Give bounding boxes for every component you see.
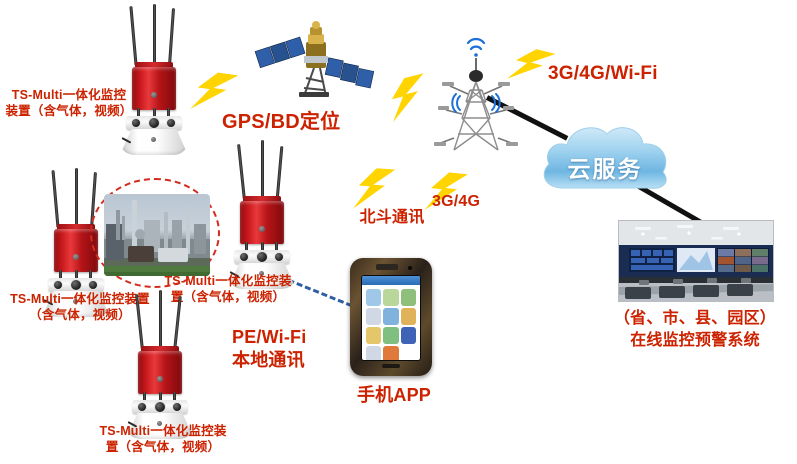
antenna: [153, 4, 156, 66]
antenna: [51, 170, 59, 228]
sensor-port: [239, 252, 249, 262]
sensor-port: [166, 118, 176, 128]
sensor-port: [256, 251, 268, 263]
app-icon[interactable]: [383, 346, 398, 361]
device-red-housing: [132, 67, 176, 110]
app-icon[interactable]: [383, 289, 398, 306]
label-device-bottom: TS-Multi一体化监控装 置（含气体，视频）: [78, 424, 248, 455]
monitoring-device-top-left[interactable]: [112, 4, 198, 152]
monitoring-device-bottom[interactable]: [118, 290, 204, 438]
cone-indicator: [151, 137, 156, 142]
antenna: [237, 144, 246, 200]
monitoring-device-mid-right[interactable]: [220, 140, 306, 288]
cloud-label: 云服务: [537, 150, 673, 184]
label-device-top-left: TS-Multi一体化监控 装置（含气体，视频）: [4, 88, 134, 119]
label-pe-wifi-local: PE/Wi-Fi 本地通讯: [232, 326, 342, 371]
antenna: [173, 296, 182, 350]
antenna: [129, 6, 137, 66]
plant-highlight-circle: [90, 178, 220, 288]
sensor-port: [53, 280, 63, 290]
app-icon[interactable]: [383, 308, 398, 325]
tablet-home-button[interactable]: [382, 364, 400, 368]
sensor-port: [70, 279, 82, 291]
sensor-port: [137, 402, 147, 412]
communication-tower-icon: [424, 18, 528, 154]
device-logo-dot: [259, 226, 265, 232]
label-gps-bd: GPS/BD定位: [222, 110, 372, 135]
app-icon[interactable]: [383, 327, 398, 344]
antenna: [261, 140, 264, 200]
antenna: [159, 290, 162, 350]
cloud-service-node[interactable]: 云服务: [537, 118, 673, 200]
sensor-port: [88, 280, 98, 290]
rugged-tablet-device[interactable]: [350, 258, 432, 376]
sensor-port: [172, 402, 182, 412]
antenna: [168, 8, 175, 66]
device-logo-dot: [157, 376, 163, 382]
app-icon[interactable]: [366, 289, 381, 306]
sensor-port: [154, 401, 166, 413]
antenna: [135, 294, 144, 350]
device-logo-dot: [73, 254, 79, 260]
app-icon[interactable]: [401, 289, 416, 306]
device-red-housing: [138, 351, 182, 394]
app-icon[interactable]: [401, 346, 416, 361]
industrial-plant-photo: [104, 194, 210, 276]
device-red-housing: [240, 201, 284, 244]
app-icon[interactable]: [366, 346, 381, 361]
sensor-port: [274, 252, 284, 262]
label-mobile-app: 手机APP: [348, 384, 440, 407]
antenna: [75, 168, 78, 228]
label-beidou: 北斗通讯: [342, 208, 442, 228]
antenna: [276, 146, 284, 200]
device-logo-dot: [151, 92, 157, 98]
tablet-top-port: [376, 264, 398, 270]
satellite-icon: [252, 12, 380, 104]
bolt-beidou-uplink: [351, 167, 396, 212]
label-3g4g: 3G/4G: [432, 192, 502, 212]
plant-silhouette: [104, 194, 210, 276]
tablet-app-grid[interactable]: [365, 288, 417, 357]
app-icon[interactable]: [366, 327, 381, 344]
app-icon[interactable]: [401, 327, 416, 344]
app-icon[interactable]: [366, 308, 381, 325]
label-control-center: （省、市、县、园区） 在线监控预警系统: [600, 308, 790, 351]
sensor-port: [131, 118, 141, 128]
app-icon[interactable]: [401, 308, 416, 325]
tablet-screen[interactable]: [361, 275, 421, 361]
sensor-port: [148, 117, 160, 129]
control-room-photo: [618, 220, 774, 302]
diagram-canvas: TS-Multi一体化监控 装置（含气体，视频） TS-Multi一体化监控装置…: [0, 0, 797, 464]
label-3g4g-wifi: 3G/4G/Wi-Fi: [548, 62, 708, 86]
tablet-status-bar: [362, 276, 420, 285]
tablet-camera-icon: [408, 266, 412, 270]
